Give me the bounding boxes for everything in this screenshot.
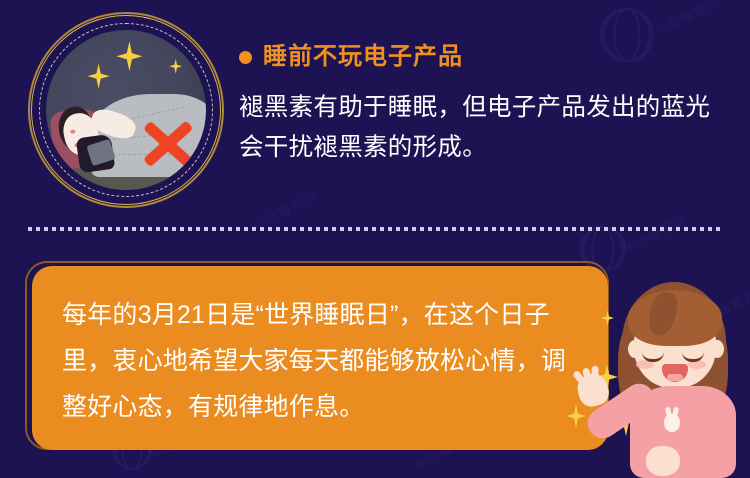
tip-heading: 睡前不玩电子产品 (263, 45, 463, 69)
sleep-illustration (28, 12, 224, 208)
watermark-globe-icon (600, 8, 654, 62)
cheek (70, 129, 76, 134)
poster-canvas: 中华睡眠网 中华睡眠网 中华睡眠网 中华睡眠网 中华睡眠网 中华睡眠网 (0, 0, 750, 478)
watermark-text: 中华睡眠网 (620, 209, 691, 259)
watermark-text: 中华睡眠网 (652, 0, 723, 40)
red-x-icon (139, 120, 197, 168)
callout-box: 每年的3月21日是“世界睡眠日”，在这个日子里，衷心地希望大家每天都能够放松心情… (32, 266, 608, 450)
tip-body-text: 褪黑素有助于睡眠，但电子产品发出的蓝光会干扰褪黑素的形成。 (239, 88, 731, 168)
tip-heading-row: 睡前不玩电子产品 (239, 45, 463, 69)
orange-dot-icon (239, 51, 252, 64)
waving-girl-illustration (588, 268, 750, 478)
bunny-icon (664, 414, 680, 432)
resting-hand (646, 446, 680, 476)
bedroom-scene (46, 30, 206, 190)
callout-text: 每年的3月21日是“世界睡眠日”，在这个日子里，衷心地希望大家每天都能够放松心情… (62, 292, 578, 430)
dotted-divider (28, 227, 722, 231)
